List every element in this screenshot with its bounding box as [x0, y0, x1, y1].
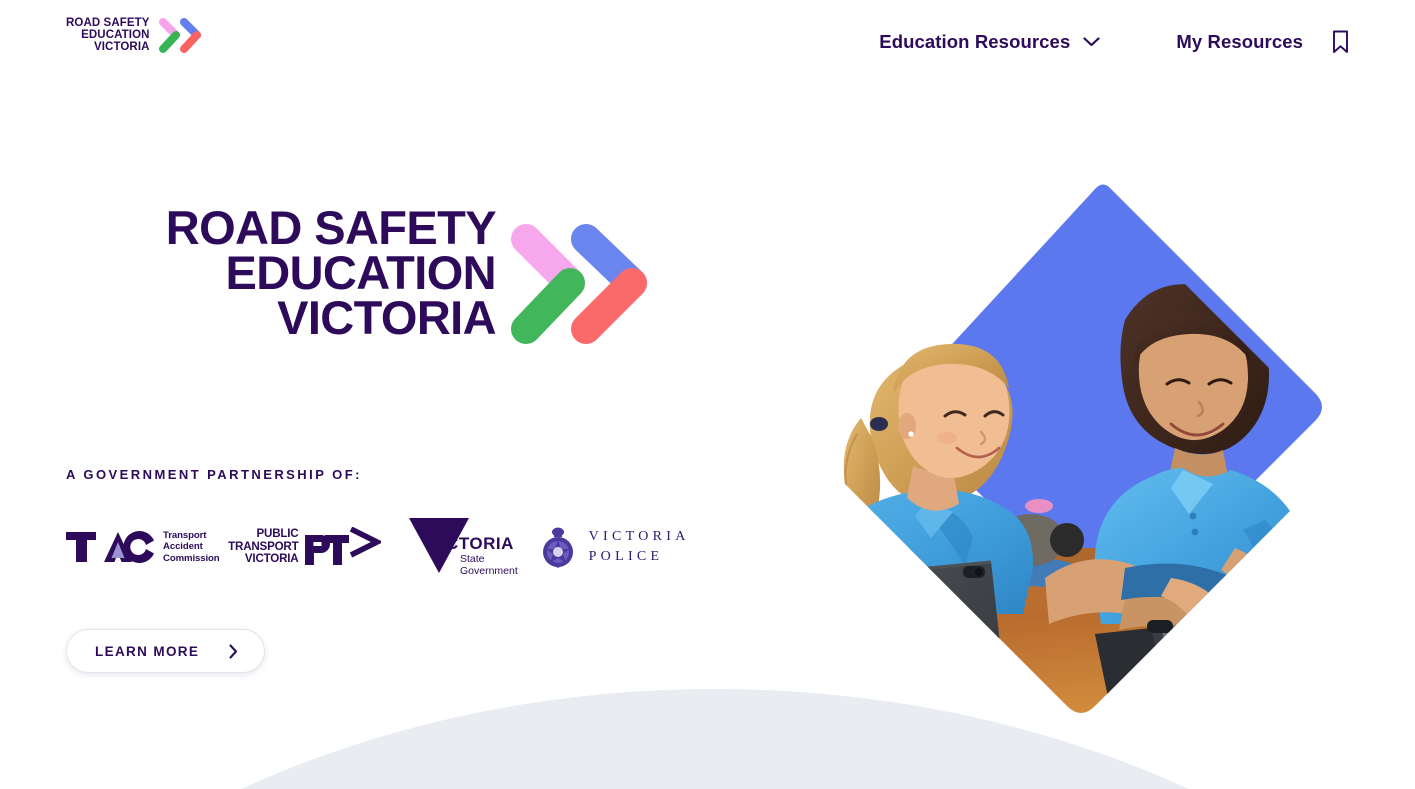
partner-logos: Transport Accident Commission PUBLIC TRA…: [66, 515, 706, 579]
bookmark-icon: [1332, 30, 1349, 54]
nav-my-resources[interactable]: My Resources: [1176, 30, 1349, 54]
tac-wordmark: Transport Accident Commission: [163, 530, 220, 564]
site-header: ROAD SAFETY EDUCATION VICTORIA Education…: [0, 0, 1415, 84]
victoria-police-crest-icon: [541, 524, 575, 571]
page-title: ROAD SAFETY EDUCATION VICTORIA: [66, 205, 496, 340]
tac-text-line-1: Transport: [163, 530, 220, 541]
hero-logo: ROAD SAFETY EDUCATION VICTORIA: [66, 205, 666, 355]
ptv-text-line-1: PUBLIC: [228, 528, 298, 541]
partnership-label: A GOVERNMENT PARTNERSHIP OF:: [66, 467, 706, 482]
hero-title-line-3: VICTORIA: [66, 295, 496, 340]
hero-image: [795, 148, 1355, 738]
tac-text-line-2: Accident: [163, 541, 220, 552]
site-logo-wordmark: ROAD SAFETY EDUCATION VICTORIA: [66, 18, 150, 53]
site-logo[interactable]: ROAD SAFETY EDUCATION VICTORIA: [66, 16, 211, 56]
victoria-police-wordmark: VICTORIA POLICE: [589, 527, 690, 567]
learn-more-button[interactable]: LEARN MORE: [66, 629, 265, 673]
victoria-state-government-mark-icon: VICTORIA State Government: [403, 515, 538, 579]
ptv-text-line-3: VICTORIA: [228, 553, 298, 566]
site-logo-line-3: VICTORIA: [94, 42, 150, 54]
nav-my-resources-label: My Resources: [1176, 31, 1303, 53]
nav-education-resources-label: Education Resources: [879, 31, 1070, 53]
partner-logo-victoria-state-government: VICTORIA State Government: [403, 515, 531, 579]
hero-title-line-2: EDUCATION: [66, 250, 496, 295]
tac-text-line-3: Commission: [163, 553, 220, 564]
ptv-mark-icon: [303, 527, 381, 567]
partner-logo-public-transport-victoria: PUBLIC TRANSPORT VICTORIA: [228, 527, 403, 567]
hero-chevrons-icon: [508, 217, 668, 352]
partner-logo-tac: Transport Accident Commission: [66, 530, 236, 564]
main-navigation: Education Resources My Resources: [879, 0, 1349, 84]
victoria-police-line-2: POLICE: [589, 547, 690, 567]
svg-text:State: State: [460, 553, 485, 565]
chevron-down-icon: [1083, 37, 1100, 47]
chevron-right-icon: [229, 644, 238, 659]
ptv-wordmark: PUBLIC TRANSPORT VICTORIA: [228, 528, 298, 566]
hero-content: ROAD SAFETY EDUCATION VICTORIA A GOVERNM…: [66, 205, 706, 673]
page-root: ROAD SAFETY EDUCATION VICTORIA Education…: [0, 0, 1415, 789]
partner-logo-victoria-police: VICTORIA POLICE: [541, 524, 706, 571]
svg-text:Government: Government: [460, 565, 518, 577]
victoria-police-line-1: VICTORIA: [589, 527, 690, 547]
hero-title-line-1: ROAD SAFETY: [66, 205, 496, 250]
tac-mark-icon: [66, 530, 154, 564]
learn-more-label: LEARN MORE: [95, 644, 199, 659]
site-logo-chevrons-icon: [159, 16, 211, 56]
nav-education-resources[interactable]: Education Resources: [879, 31, 1100, 53]
